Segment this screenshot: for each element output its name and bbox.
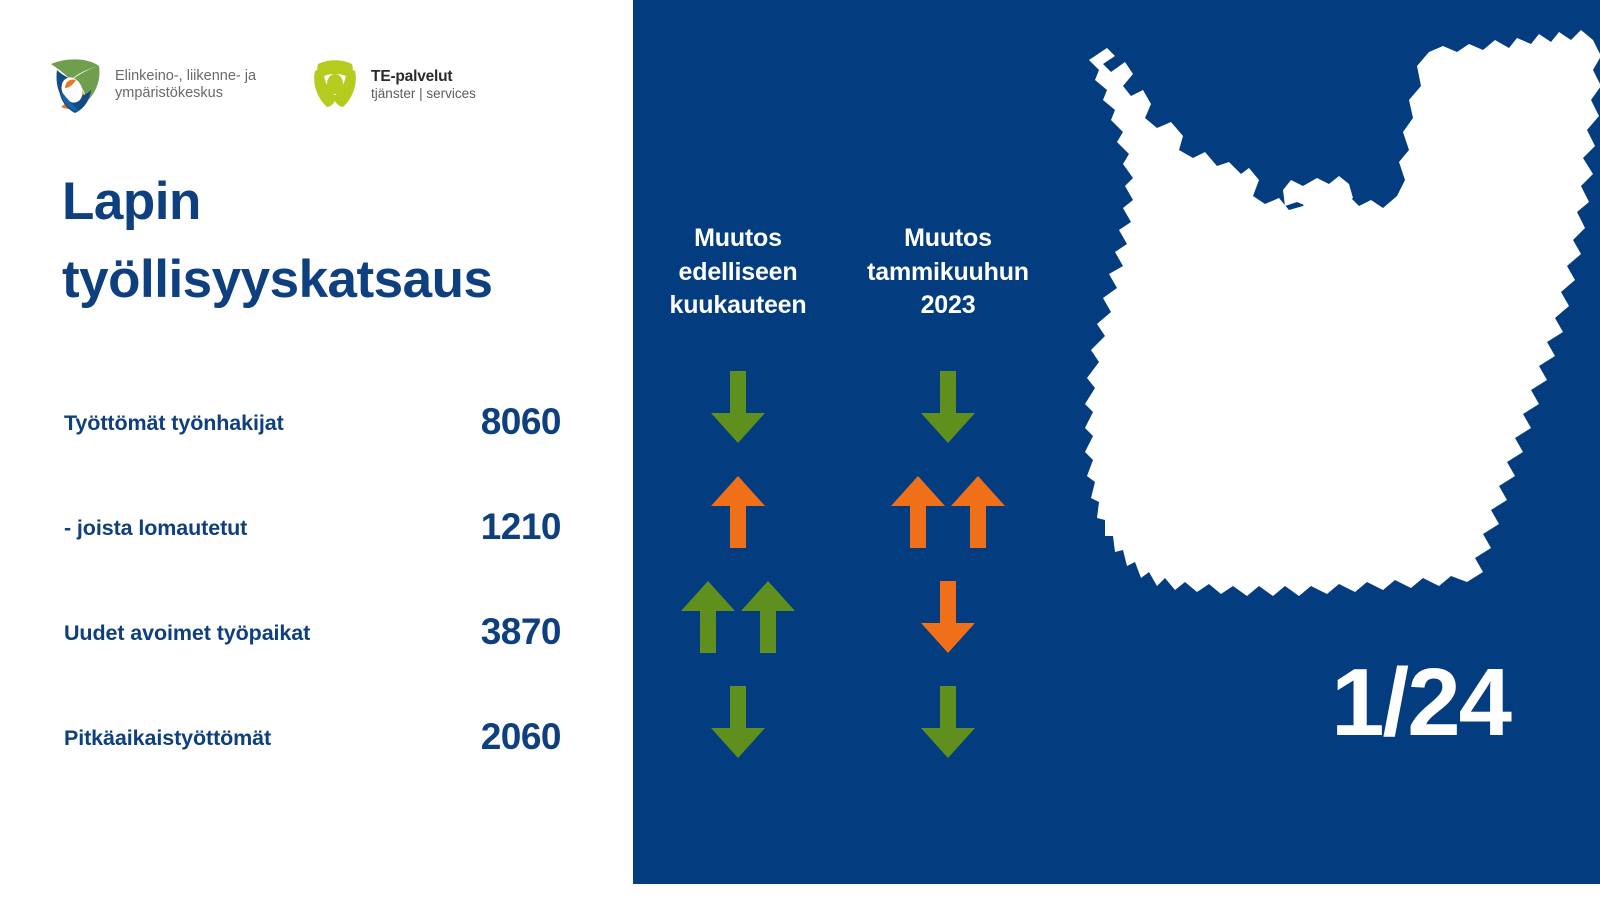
arrow-down-icon bbox=[711, 686, 765, 758]
stat-value: 2060 bbox=[481, 716, 561, 758]
change-indicator-year bbox=[843, 371, 1053, 476]
te-palvelut-trefoil-icon bbox=[308, 58, 362, 113]
stat-row: Pitkäaikaistyöttömät 2060 bbox=[0, 708, 633, 813]
arrow-up-icon bbox=[681, 581, 735, 653]
column-header-previous-month: Muutos edelliseen kuukauteen bbox=[633, 222, 843, 323]
change-column-headers: Muutos edelliseen kuukauteen Muutos tamm… bbox=[633, 222, 1053, 323]
lapland-region-map bbox=[1053, 0, 1600, 640]
change-indicator-year bbox=[843, 476, 1053, 581]
change-indicator-year bbox=[843, 581, 1053, 686]
infographic-slide: Elinkeino-, liikenne- ja ympäristökeskus… bbox=[0, 0, 1600, 900]
te-palvelut-logo: TE-palvelut tjänster | services bbox=[308, 58, 476, 113]
arrow-up-icon bbox=[741, 581, 795, 653]
change-indicator-month bbox=[633, 686, 843, 791]
te-palvelut-name: TE-palvelut bbox=[371, 68, 476, 85]
stat-value: 8060 bbox=[481, 401, 561, 443]
arrow-down-icon bbox=[711, 371, 765, 443]
right-panel: Muutos edelliseen kuukauteen Muutos tamm… bbox=[633, 0, 1600, 884]
ely-keskus-logo: Elinkeino-, liikenne- ja ympäristökeskus bbox=[45, 52, 256, 118]
te-palvelut-logo-text: TE-palvelut tjänster | services bbox=[371, 68, 476, 102]
stat-value: 3870 bbox=[481, 611, 561, 653]
left-panel: Elinkeino-, liikenne- ja ympäristökeskus… bbox=[0, 0, 633, 900]
logo-row: Elinkeino-, liikenne- ja ympäristökeskus… bbox=[45, 45, 476, 125]
arrow-down-icon bbox=[921, 581, 975, 653]
arrow-row bbox=[633, 581, 1053, 686]
date-badge: 1/24 bbox=[1331, 655, 1510, 751]
ely-leaf-icon bbox=[45, 52, 105, 118]
column-header-previous-year: Muutos tammikuuhun 2023 bbox=[843, 222, 1053, 323]
stat-label: Työttömät työnhakijat bbox=[64, 411, 284, 436]
arrow-down-icon bbox=[921, 371, 975, 443]
page-title: Lapin työllisyyskatsaus bbox=[62, 163, 602, 319]
arrow-down-icon bbox=[921, 686, 975, 758]
change-indicator-year bbox=[843, 686, 1053, 791]
ely-keskus-logo-text: Elinkeino-, liikenne- ja ympäristökeskus bbox=[115, 68, 256, 102]
stat-label: Pitkäaikaistyöttömät bbox=[64, 726, 271, 751]
stat-row: Työttömät työnhakijat 8060 bbox=[0, 393, 633, 498]
arrow-up-icon bbox=[891, 476, 945, 548]
change-indicator-month bbox=[633, 371, 843, 476]
statistics-list: Työttömät työnhakijat 8060 - joista loma… bbox=[0, 393, 633, 813]
change-indicator-month bbox=[633, 476, 843, 581]
stat-label: Uudet avoimet työpaikat bbox=[64, 621, 310, 646]
stat-label: - joista lomautetut bbox=[64, 516, 247, 541]
stat-row: Uudet avoimet työpaikat 3870 bbox=[0, 603, 633, 708]
arrow-row bbox=[633, 476, 1053, 581]
change-indicator-month bbox=[633, 581, 843, 686]
arrow-row bbox=[633, 686, 1053, 791]
stat-value: 1210 bbox=[481, 506, 561, 548]
arrow-up-icon bbox=[951, 476, 1005, 548]
change-arrow-grid bbox=[633, 371, 1053, 791]
te-palvelut-tagline: tjänster | services bbox=[371, 86, 476, 102]
arrow-row bbox=[633, 371, 1053, 476]
stat-row: - joista lomautetut 1210 bbox=[0, 498, 633, 603]
arrow-up-icon bbox=[711, 476, 765, 548]
